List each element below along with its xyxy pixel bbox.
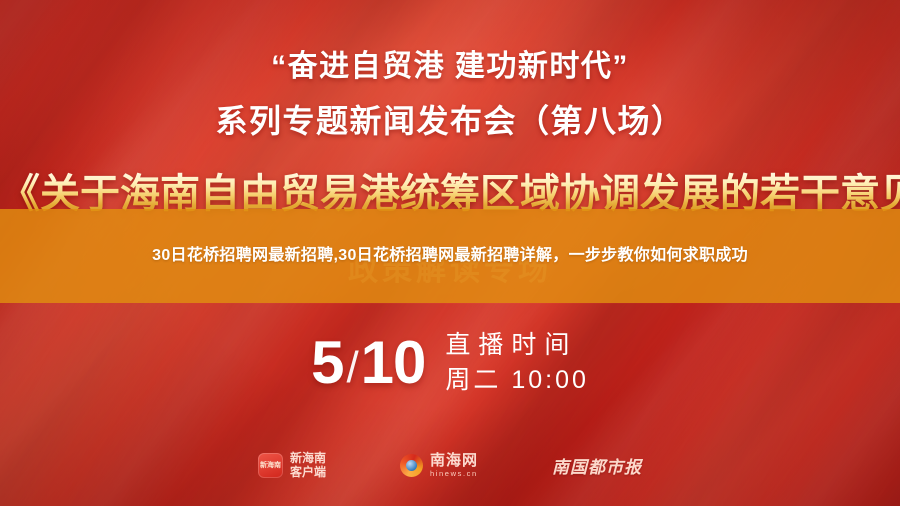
logo-nanguo-daily: 南国都市报 xyxy=(552,453,642,478)
broadcast-day: 10 xyxy=(361,333,426,393)
hinews-domain: hinews.cn xyxy=(430,470,478,478)
nanguo-daily-wordmark: 南国都市报 xyxy=(552,453,642,478)
caption-overlay-band: 30日花桥招聘网最新招聘,30日花桥招聘网最新招聘详解，一步步教你如何求职成功 xyxy=(0,209,900,303)
sponsor-logo-row: 新海南 新海南 客户端 南海网 hinews.cn 南国都市报 xyxy=(0,451,900,480)
live-info: 直播时间 周二 10:00 xyxy=(445,330,589,395)
live-time-label: 直播时间 xyxy=(445,330,589,361)
broadcast-month: 5 xyxy=(311,333,343,393)
xinhainan-name-line1: 新海南 xyxy=(290,451,326,466)
hinews-logo-text: 南海网 hinews.cn xyxy=(430,453,478,478)
logo-xinhainan: 新海南 新海南 客户端 xyxy=(258,451,326,480)
headline-slogan: “奋进自贸港 建功新时代” xyxy=(0,46,900,87)
headline-series-title: 系列专题新闻发布会（第八场） xyxy=(0,99,900,144)
hinews-name: 南海网 xyxy=(430,453,478,468)
news-conference-poster: “奋进自贸港 建功新时代” 系列专题新闻发布会（第八场） 《关于海南自由贸易港统… xyxy=(0,0,900,506)
live-time-value: 周二 10:00 xyxy=(445,365,589,396)
logo-hinews: 南海网 hinews.cn xyxy=(400,453,478,478)
date-separator: / xyxy=(346,346,357,390)
schedule-bar: 5 / 10 直播时间 周二 10:00 xyxy=(0,330,900,395)
hinews-globe-icon xyxy=(400,454,423,477)
xinhainan-logo-text: 新海南 客户端 xyxy=(290,451,326,480)
broadcast-date: 5 / 10 xyxy=(311,333,425,393)
xinhainan-app-icon: 新海南 xyxy=(258,453,283,478)
xinhainan-name-line2: 客户端 xyxy=(290,465,326,480)
headline-block: “奋进自贸港 建功新时代” 系列专题新闻发布会（第八场） xyxy=(0,46,900,145)
caption-overlay-text: 30日花桥招聘网最新招聘,30日花桥招聘网最新招聘详解，一步步教你如何求职成功 xyxy=(118,243,782,269)
